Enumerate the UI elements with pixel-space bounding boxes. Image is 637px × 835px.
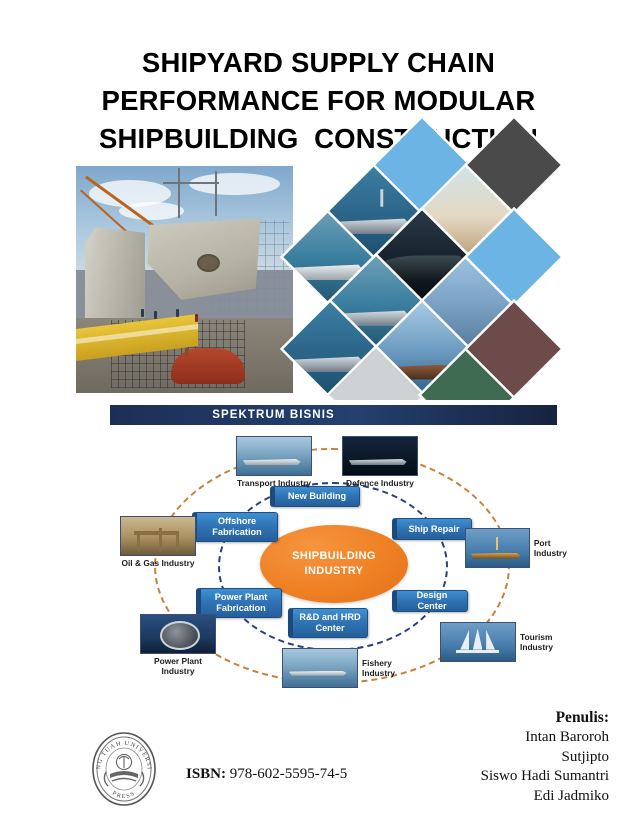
shipyard-photo xyxy=(76,166,293,393)
worker-figure xyxy=(176,309,179,317)
chip-design-center[interactable]: Design Center xyxy=(392,590,468,612)
rig-leg-icon xyxy=(176,532,179,551)
turbine-icon xyxy=(160,621,200,650)
port-industry-thumb xyxy=(465,528,530,568)
lifted-hull-block xyxy=(148,218,261,300)
hull-icon xyxy=(456,650,499,653)
fishery-industry-thumb xyxy=(282,648,358,688)
svg-text:PRESS: PRESS xyxy=(111,790,137,800)
diagram-banner-title: SPEKTRUM BISNIS xyxy=(212,409,335,421)
defence-industry-thumb xyxy=(342,436,418,476)
book-cover-page: SHIPYARD SUPPLY CHAIN PERFORMANCE FOR MO… xyxy=(0,0,637,835)
crane-icon xyxy=(496,537,498,550)
node-label: Defence Industry xyxy=(342,478,418,488)
publisher-seal-logo: HANG TUAH UNIVERSITY PRESS xyxy=(88,728,160,810)
node-fishery-industry[interactable]: Fishery Industry xyxy=(282,648,395,688)
crane-mast-icon xyxy=(215,171,217,216)
thumb-photo xyxy=(283,649,357,687)
authors-block: Penulis: Intan Baroroh Sutjipto Siswo Ha… xyxy=(309,708,609,806)
shipbuilding-industry-core: SHIPBUILDING INDUSTRY xyxy=(260,525,408,603)
authors-heading: Penulis: xyxy=(309,708,609,728)
thumb-photo xyxy=(237,437,311,475)
naval-collage xyxy=(301,172,591,404)
node-transport-industry[interactable]: Transport Industry xyxy=(236,436,312,488)
author-name: Edi Jadmiko xyxy=(309,787,609,807)
chip-rd-hrd-center[interactable]: R&D and HRD Center xyxy=(288,608,368,638)
author-name: Sutjipto xyxy=(309,748,609,768)
thumb-photo xyxy=(121,517,195,555)
node-label: Transport Industry xyxy=(236,478,312,488)
mast-icon xyxy=(380,190,383,207)
chip-offshore-fabrication[interactable]: Offshore Fabrication xyxy=(192,512,278,542)
core-label-line1: SHIPBUILDING xyxy=(292,549,376,564)
node-label: Port Industry xyxy=(534,538,578,558)
node-power-plant-industry[interactable]: Power Plant Industry xyxy=(140,614,216,676)
worker-figure xyxy=(195,314,198,322)
worker-figure xyxy=(141,309,144,317)
transport-industry-thumb xyxy=(236,436,312,476)
power-plant-thumb xyxy=(140,614,216,654)
core-label-line2: INDUSTRY xyxy=(304,564,363,579)
page-title: SHIPYARD SUPPLY CHAIN PERFORMANCE FOR MO… xyxy=(0,44,637,158)
chip-ship-repair[interactable]: Ship Repair xyxy=(392,518,472,540)
node-port-industry[interactable]: Port Industry xyxy=(465,528,578,568)
node-label: Tourism Industry xyxy=(520,632,553,652)
spektrum-bisnis-diagram: SPEKTRUM BISNIS SHIPBUILDING INDUSTRY Ne… xyxy=(110,400,560,702)
hang-tuah-press-seal-icon: HANG TUAH UNIVERSITY PRESS xyxy=(88,728,160,810)
node-oil-gas-industry[interactable]: Oil & Gas Industry xyxy=(120,516,196,568)
worker-figure xyxy=(154,311,157,319)
worker-figure xyxy=(185,348,188,356)
node-defence-industry[interactable]: Defence Industry xyxy=(342,436,418,488)
author-name: Intan Baroroh xyxy=(309,728,609,748)
node-label: Oil & Gas Industry xyxy=(120,558,196,568)
author-name: Siswo Hadi Sumantri xyxy=(309,767,609,787)
title-line-2: PERFORMANCE FOR MODULAR xyxy=(0,82,637,120)
rig-deck-icon xyxy=(134,531,178,535)
title-line-1: SHIPYARD SUPPLY CHAIN xyxy=(0,44,637,82)
crane-mast-icon xyxy=(178,168,180,218)
diagram-banner: SPEKTRUM BISNIS xyxy=(110,405,557,425)
ship-superstructure xyxy=(85,227,146,318)
oil-gas-thumb xyxy=(120,516,196,556)
tourism-industry-thumb xyxy=(440,622,516,662)
chip-new-building[interactable]: New Building xyxy=(270,486,360,507)
red-hull-section xyxy=(171,348,245,384)
node-label: Fishery Industry xyxy=(362,658,395,678)
node-tourism-industry[interactable]: Tourism Industry xyxy=(440,622,553,662)
isbn-label: ISBN: xyxy=(186,766,226,782)
thumb-photo xyxy=(343,437,417,475)
node-label: Power Plant Industry xyxy=(140,656,216,676)
crane-gantry-icon xyxy=(163,182,219,184)
